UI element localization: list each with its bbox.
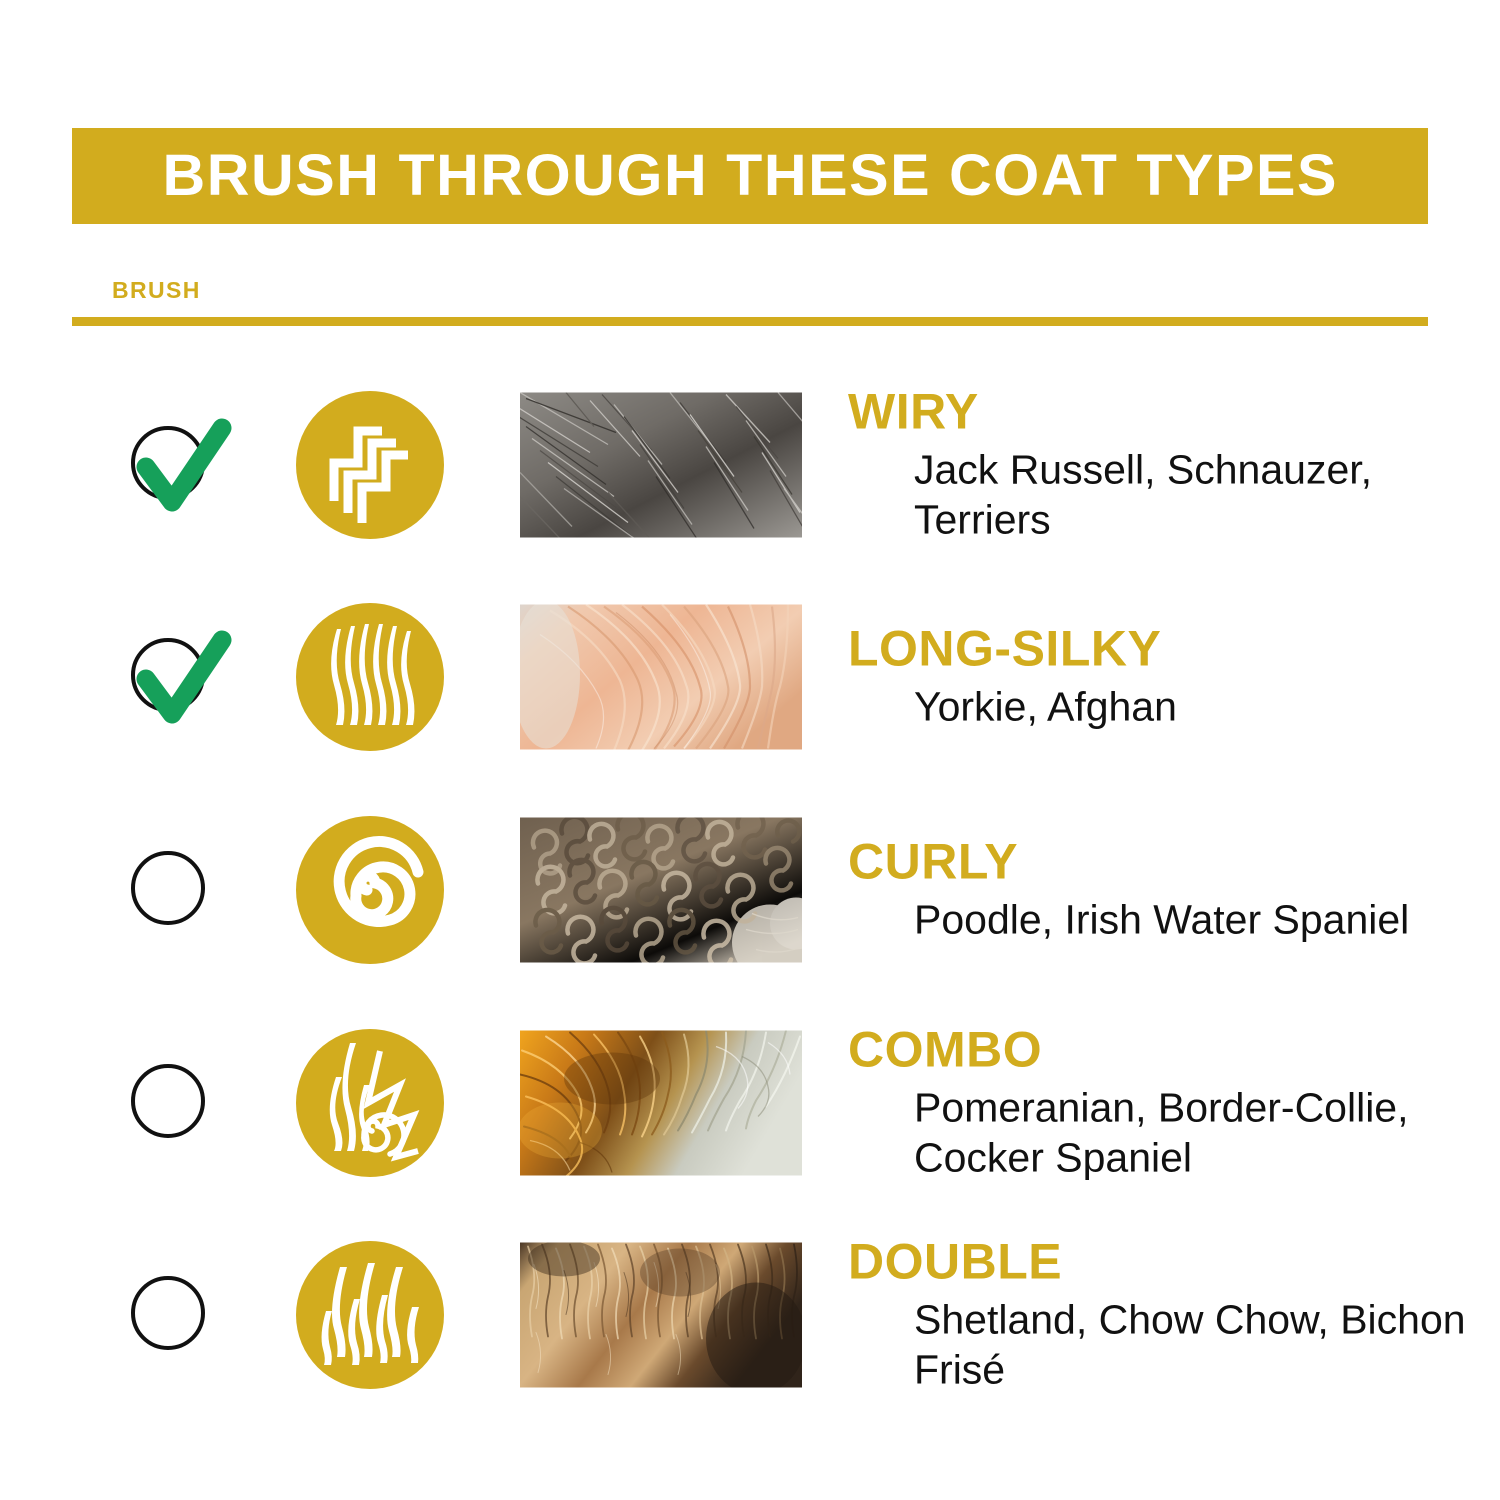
coat-breeds: Yorkie, Afghan xyxy=(914,681,1468,731)
page-title: BRUSH THROUGH THESE COAT TYPES xyxy=(162,147,1337,205)
table-row: WIRY Jack Russell, Schnauzer, Terriers xyxy=(0,365,1500,565)
long-silky-coat-photo xyxy=(520,605,802,750)
wiry-zigzag-icon xyxy=(296,391,444,539)
coat-breeds: Pomeranian, Border-Collie, Cocker Spanie… xyxy=(914,1082,1468,1182)
curly-spiral-icon xyxy=(296,816,444,964)
coat-info-combo: COMBO Pomeranian, Border-Collie, Cocker … xyxy=(848,1024,1468,1183)
coat-breeds: Shetland, Chow Chow, Bichon Frisé xyxy=(914,1294,1468,1394)
curly-coat-photo xyxy=(520,818,802,963)
coat-name: WIRY xyxy=(848,386,1468,439)
table-row: LONG-SILKY Yorkie, Afghan xyxy=(0,577,1500,777)
table-row: CURLY Poodle, Irish Water Spaniel xyxy=(0,790,1500,990)
checkbox-curly[interactable] xyxy=(128,835,238,945)
coat-name: CURLY xyxy=(848,836,1468,889)
combo-coat-photo xyxy=(520,1031,802,1176)
coat-info-wiry: WIRY Jack Russell, Schnauzer, Terriers xyxy=(848,386,1468,545)
check-icon xyxy=(128,622,238,732)
coat-breeds: Poodle, Irish Water Spaniel xyxy=(914,894,1468,944)
coat-info-curly: CURLY Poodle, Irish Water Spaniel xyxy=(848,836,1468,945)
table-row: COMBO Pomeranian, Border-Collie, Cocker … xyxy=(0,1003,1500,1203)
wiry-coat-photo xyxy=(520,393,802,538)
long-silky-strands-icon xyxy=(296,603,444,751)
double-coat-photo xyxy=(520,1243,802,1388)
checkbox-double[interactable] xyxy=(128,1260,238,1370)
coat-name: COMBO xyxy=(848,1024,1468,1077)
checkbox-wiry[interactable] xyxy=(128,410,238,520)
title-banner: BRUSH THROUGH THESE COAT TYPES xyxy=(72,128,1428,224)
coat-name: LONG-SILKY xyxy=(848,623,1468,676)
checkbox-long-silky[interactable] xyxy=(128,622,238,732)
column-header-brush: BRUSH xyxy=(112,277,201,304)
combo-mixed-icon xyxy=(296,1029,444,1177)
check-icon xyxy=(128,410,238,520)
double-coat-strands-icon xyxy=(296,1241,444,1389)
checkbox-combo[interactable] xyxy=(128,1048,238,1158)
coat-name: DOUBLE xyxy=(848,1236,1468,1289)
table-row: DOUBLE Shetland, Chow Chow, Bichon Frisé xyxy=(0,1215,1500,1415)
coat-info-long-silky: LONG-SILKY Yorkie, Afghan xyxy=(848,623,1468,732)
circle-outline-icon xyxy=(131,1276,205,1350)
coat-info-double: DOUBLE Shetland, Chow Chow, Bichon Frisé xyxy=(848,1236,1468,1395)
circle-outline-icon xyxy=(131,1064,205,1138)
header-divider xyxy=(72,317,1428,326)
infographic-page: BRUSH THROUGH THESE COAT TYPES BRUSH xyxy=(0,0,1500,1500)
circle-outline-icon xyxy=(131,851,205,925)
coat-breeds: Jack Russell, Schnauzer, Terriers xyxy=(914,444,1468,544)
